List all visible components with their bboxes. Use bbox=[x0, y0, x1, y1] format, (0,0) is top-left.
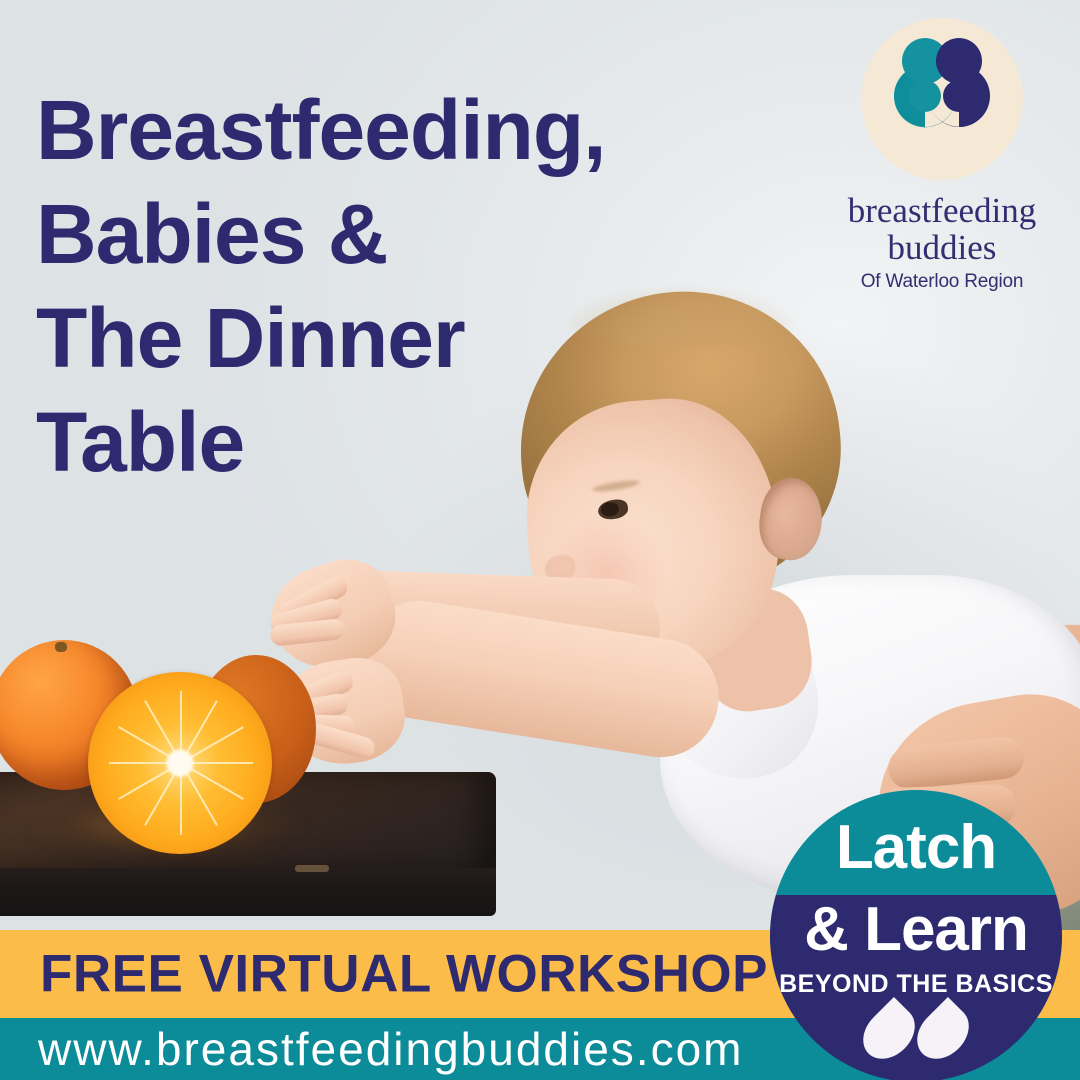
poster-canvas: Breastfeeding, Babies & The Dinner Table bbox=[0, 0, 1080, 1080]
brand-logo: breastfeeding buddies Of Waterloo Region bbox=[818, 18, 1066, 293]
milk-drop-icon bbox=[853, 997, 925, 1069]
parent-and-child-logo-mark bbox=[861, 18, 1023, 180]
badge-title-line-2: & Learn bbox=[770, 898, 1062, 962]
title-line-4: Table bbox=[36, 390, 736, 494]
wooden-table-edge bbox=[0, 868, 496, 916]
workshop-banner-text: FREE VIRTUAL WORKSHOP bbox=[40, 944, 768, 1005]
title-line-3: The Dinner bbox=[36, 286, 736, 390]
latch-and-learn-badge: Latch & Learn BEYOND THE BASICS bbox=[770, 790, 1062, 1080]
title-line-2: Babies & bbox=[36, 182, 736, 286]
halved-orange bbox=[88, 672, 272, 854]
logo-name-line-1: breastfeeding bbox=[818, 192, 1066, 229]
milk-drop-icon bbox=[907, 997, 979, 1069]
badge-drops bbox=[770, 1004, 1062, 1062]
logo-name-line-2: buddies bbox=[818, 229, 1066, 266]
title-line-1: Breastfeeding, bbox=[36, 78, 736, 182]
logo-wordmark: breastfeeding buddies bbox=[818, 192, 1066, 266]
badge-subtitle: BEYOND THE BASICS bbox=[770, 970, 1062, 999]
logo-figures-icon bbox=[861, 18, 1023, 180]
badge-title-line-1: Latch bbox=[770, 816, 1062, 880]
logo-tagline: Of Waterloo Region bbox=[818, 271, 1066, 293]
page-title: Breastfeeding, Babies & The Dinner Table bbox=[36, 78, 736, 494]
website-url[interactable]: www.breastfeedingbuddies.com bbox=[38, 1022, 743, 1076]
